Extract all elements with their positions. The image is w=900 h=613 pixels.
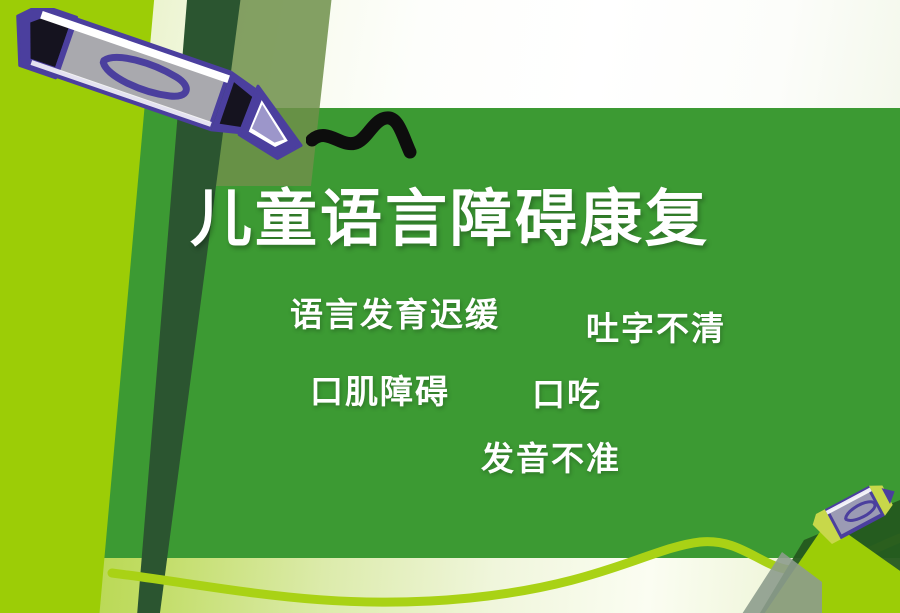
symptom-inaccurate-pronunciation: 发音不准 [481,442,621,475]
symptom-unclear-articulation: 吐字不清 [586,312,726,345]
symptom-language-delay: 语言发育迟缓 [290,298,500,331]
fountain-pen-icon [806,478,900,548]
page-title: 儿童语言障碍康复 [0,186,900,251]
symptom-stuttering: 口吃 [532,378,602,411]
fountain-pen-icon [0,8,324,168]
poster-canvas: 儿童语言障碍康复 语言发育迟缓 吐字不清 口肌障碍 口吃 发音不准 [0,0,900,613]
symptom-oral-muscle-disorder: 口肌障碍 [310,375,450,408]
